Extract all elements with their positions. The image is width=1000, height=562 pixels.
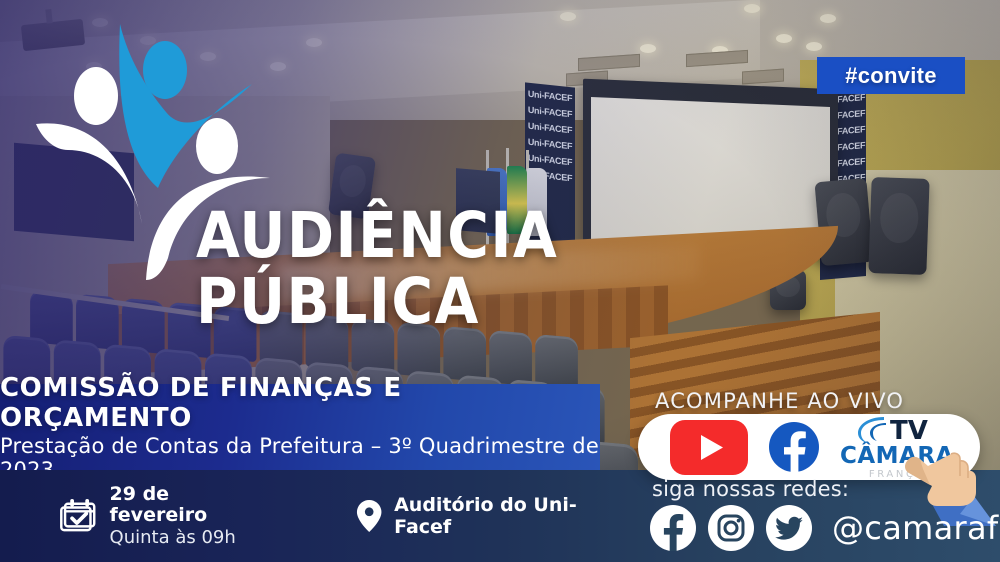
youtube-logo[interactable] — [670, 420, 748, 475]
event-info-row: 29 de fevereiro Quinta às 09h Auditório … — [0, 470, 620, 562]
event-date-block: 29 de fevereiro Quinta às 09h — [58, 484, 264, 548]
title-line-2: PÚBLICA — [196, 272, 558, 332]
svg-text:TV: TV — [890, 416, 928, 444]
live-label: ACOMPANHE AO VIVO — [655, 389, 904, 413]
facebook-logo[interactable] — [768, 421, 820, 473]
page-title: AUDIÊNCIA PÚBLICA — [196, 206, 558, 332]
event-place-block: Auditório do Uni-Facef — [356, 494, 620, 538]
event-date-secondary: Quinta às 09h — [110, 527, 264, 548]
calendar-check-icon — [58, 495, 98, 537]
event-date-primary: 29 de fevereiro — [110, 484, 264, 527]
event-place-label: Auditório do Uni-Facef — [394, 494, 620, 538]
poster-canvas: Uni-FACEF Uni-FACEF Uni-FACEF Uni-FACEF … — [0, 0, 1000, 562]
social-handle: @camarafr — [832, 509, 1000, 547]
commission-banner-title: COMISSÃO DE FINANÇAS E ORÇAMENTO — [0, 373, 600, 433]
twitter-icon[interactable] — [766, 505, 812, 551]
instagram-icon[interactable] — [708, 505, 754, 551]
social-icons-row: @camarafr — [650, 505, 1000, 551]
tv-camara-mark: TV — [854, 414, 940, 444]
facebook-icon[interactable] — [650, 505, 696, 551]
commission-banner: COMISSÃO DE FINANÇAS E ORÇAMENTO Prestaç… — [0, 384, 600, 470]
follow-label: siga nossas redes: — [652, 477, 849, 501]
convite-badge: #convite — [817, 57, 965, 94]
location-pin-icon — [356, 498, 382, 534]
convite-badge-label: #convite — [845, 63, 937, 89]
title-line-1: AUDIÊNCIA — [196, 206, 558, 266]
